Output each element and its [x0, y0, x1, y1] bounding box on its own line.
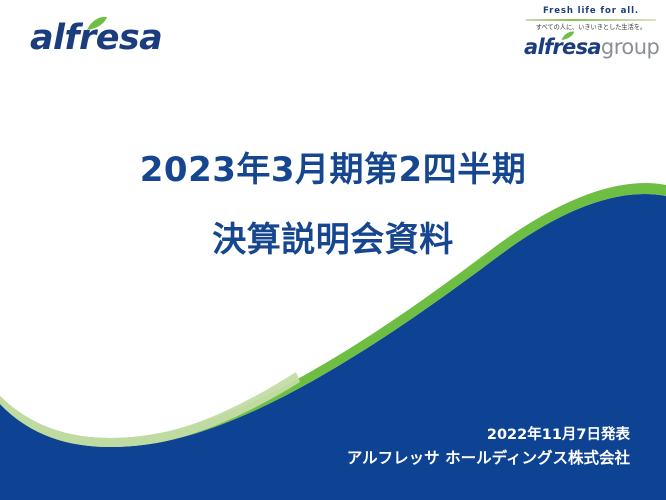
slide-title-block: 2023年3月期第2四半期 決算説明会資料 — [0, 148, 666, 262]
alfresa-group-logo: Fresh life for all. すべての人に、いきいきとした生活を。 a… — [524, 6, 658, 62]
group-logo-group-text: group — [601, 35, 660, 59]
group-logo-divider — [526, 19, 656, 21]
group-tagline-english: Fresh life for all. — [524, 6, 658, 17]
slide-title-line-2: 決算説明会資料 — [0, 218, 666, 262]
presentation-slide: alfresa Fresh life for all. すべての人に、いきいきと… — [0, 0, 666, 500]
slide-title-line-1: 2023年3月期第2四半期 — [0, 148, 666, 192]
alfresa-logo: alfresa — [30, 18, 162, 58]
group-logo-wordmark: alfresagroup — [524, 35, 658, 62]
leaf-icon — [561, 31, 575, 41]
slide-footer-block: 2022年11月7日発表 アルフレッサ ホールディングス株式会社 — [347, 424, 630, 470]
group-tagline-japanese: すべての人に、いきいきとした生活を。 — [524, 23, 658, 32]
leaf-icon — [86, 16, 108, 32]
publication-date: 2022年11月7日発表 — [347, 424, 630, 446]
company-name: アルフレッサ ホールディングス株式会社 — [347, 446, 630, 470]
